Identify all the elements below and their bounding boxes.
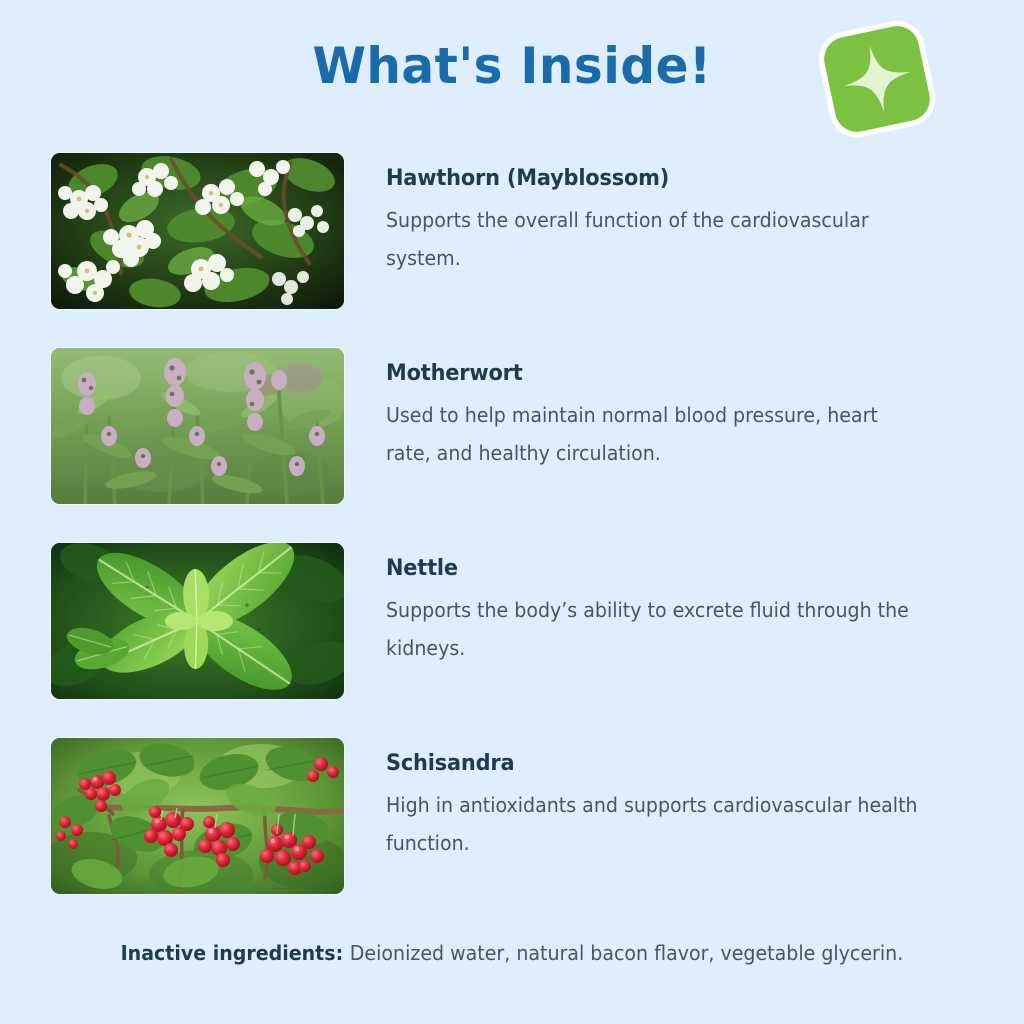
product-ingredients-panel: What's Inside!	[0, 0, 1024, 1024]
ingredient-name: Nettle	[386, 554, 956, 584]
ingredient-image-nettle	[51, 543, 344, 699]
inactive-ingredients-separator: :	[336, 941, 350, 965]
ingredient-description: Used to help maintain normal blood press…	[386, 396, 918, 472]
ingredient-description: Supports the overall function of the car…	[386, 201, 918, 277]
list-item: Schisandra High in antioxidants and supp…	[0, 735, 1024, 930]
ingredient-text: Motherwort Used to help maintain normal …	[386, 359, 986, 472]
ingredient-list: Hawthorn (Mayblossom) Supports the overa…	[0, 150, 1024, 930]
brand-logo	[816, 18, 938, 140]
ingredient-description: High in antioxidants and supports cardio…	[386, 786, 918, 862]
sparkle-star-icon	[816, 18, 938, 140]
ingredient-name: Hawthorn (Mayblossom)	[386, 164, 956, 194]
header: What's Inside!	[0, 0, 1024, 150]
ingredient-image-motherwort	[51, 348, 344, 504]
ingredient-text: Schisandra High in antioxidants and supp…	[386, 749, 986, 862]
list-item: Nettle Supports the body’s ability to ex…	[0, 540, 1024, 735]
ingredient-text: Nettle Supports the body’s ability to ex…	[386, 554, 986, 667]
ingredient-image-schisandra	[51, 738, 344, 894]
list-item: Motherwort Used to help maintain normal …	[0, 345, 1024, 540]
ingredient-image-hawthorn	[51, 153, 344, 309]
inactive-ingredients-label: Inactive ingredients	[121, 941, 336, 965]
list-item: Hawthorn (Mayblossom) Supports the overa…	[0, 150, 1024, 345]
ingredient-name: Schisandra	[386, 749, 956, 779]
inactive-ingredients-note: Inactive ingredients: Deionized water, n…	[0, 938, 1024, 968]
inactive-ingredients-value: Deionized water, natural bacon flavor, v…	[350, 941, 903, 965]
ingredient-description: Supports the body’s ability to excrete f…	[386, 591, 918, 667]
ingredient-name: Motherwort	[386, 359, 956, 389]
ingredient-text: Hawthorn (Mayblossom) Supports the overa…	[386, 164, 986, 277]
